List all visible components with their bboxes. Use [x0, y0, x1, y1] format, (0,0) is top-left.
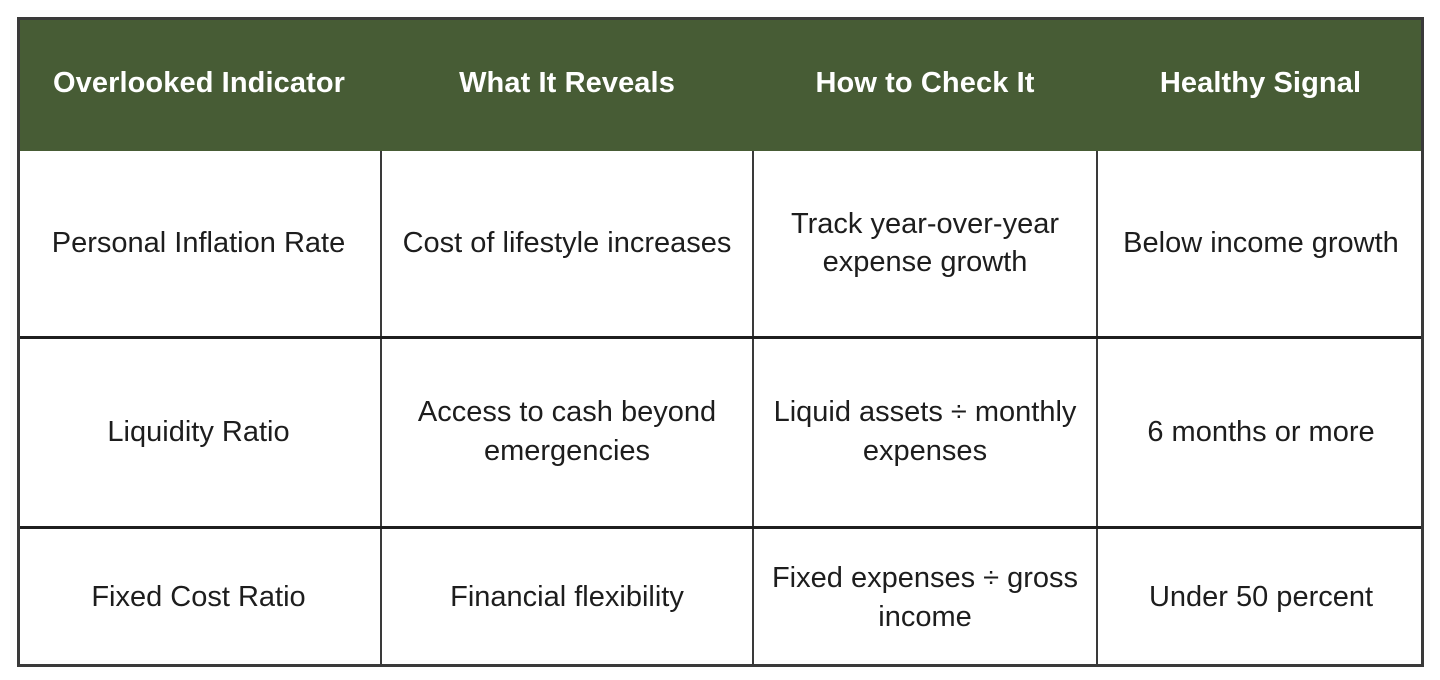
table-header-row: Overlooked Indicator What It Reveals How…	[17, 17, 1424, 151]
column-header-healthy-signal: Healthy Signal	[1097, 17, 1424, 151]
financial-indicators-table-container: Overlooked Indicator What It Reveals How…	[17, 17, 1424, 667]
cell-indicator: Fixed Cost Ratio	[17, 527, 381, 667]
cell-check: Track year-over-year expense growth	[753, 151, 1097, 337]
column-header-what-it-reveals: What It Reveals	[381, 17, 753, 151]
cell-check: Liquid assets ÷ monthly expenses	[753, 337, 1097, 527]
cell-reveals: Access to cash beyond emergencies	[381, 337, 753, 527]
cell-check: Fixed expenses ÷ gross income	[753, 527, 1097, 667]
page-root: Overlooked Indicator What It Reveals How…	[0, 0, 1440, 680]
table-row: Personal Inflation Rate Cost of lifestyl…	[17, 151, 1424, 337]
cell-healthy: Under 50 percent	[1097, 527, 1424, 667]
cell-indicator: Liquidity Ratio	[17, 337, 381, 527]
table-body: Personal Inflation Rate Cost of lifestyl…	[17, 151, 1424, 667]
column-header-how-to-check-it: How to Check It	[753, 17, 1097, 151]
table-row: Liquidity Ratio Access to cash beyond em…	[17, 337, 1424, 527]
cell-reveals: Cost of lifestyle increases	[381, 151, 753, 337]
table-header: Overlooked Indicator What It Reveals How…	[17, 17, 1424, 151]
cell-reveals: Financial flexibility	[381, 527, 753, 667]
cell-indicator: Personal Inflation Rate	[17, 151, 381, 337]
financial-indicators-table: Overlooked Indicator What It Reveals How…	[17, 17, 1424, 667]
table-row: Fixed Cost Ratio Financial flexibility F…	[17, 527, 1424, 667]
column-header-overlooked-indicator: Overlooked Indicator	[17, 17, 381, 151]
cell-healthy: Below income growth	[1097, 151, 1424, 337]
cell-healthy: 6 months or more	[1097, 337, 1424, 527]
